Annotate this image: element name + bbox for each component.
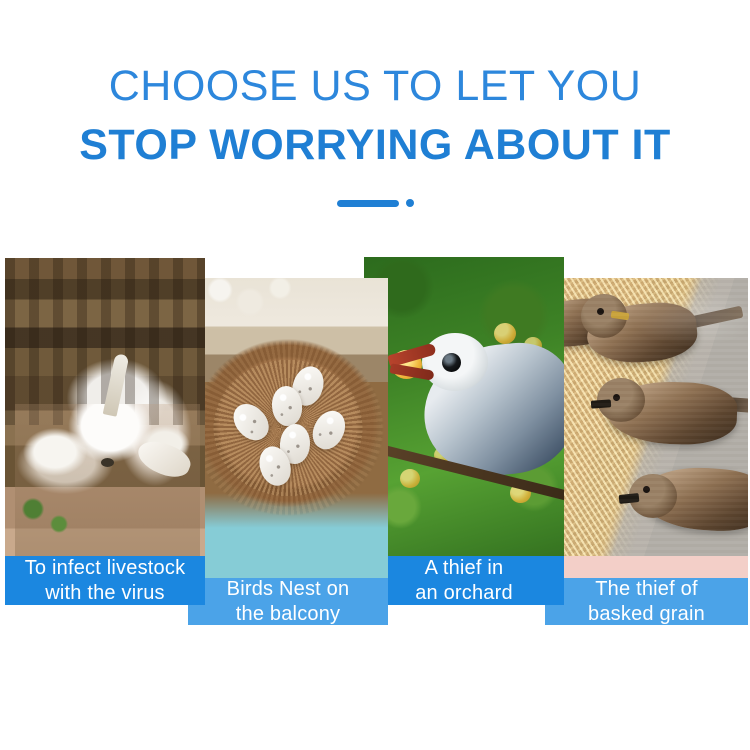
bird-eye-shape: [442, 353, 461, 372]
photo-bottom-strip: [545, 556, 748, 578]
sparrow-body-shape: [606, 380, 738, 446]
egg-shape: [226, 397, 275, 447]
sparrow-tail-shape: [680, 306, 743, 331]
sparrows-grain-photo: [545, 278, 748, 625]
fruit-shape: [400, 469, 420, 488]
sparrow-tail-shape: [721, 397, 748, 414]
egg-shape: [307, 405, 351, 454]
gallery-panel-grain[interactable]: The thief of basked grain: [545, 278, 748, 625]
sparrow-head-shape: [597, 378, 645, 422]
gallery-caption-orchard: A thief in an orchard: [364, 556, 564, 605]
sparrow-eye-shape: [613, 394, 620, 401]
gallery-panel-nest[interactable]: Birds Nest on the balcony: [188, 278, 388, 625]
sparrow-eye-shape: [643, 486, 650, 493]
goat-eye-shape: [101, 458, 114, 467]
sparrow-beak-shape: [619, 493, 640, 504]
nest-photo: [188, 278, 388, 625]
goat-ear-shape: [133, 435, 194, 483]
sparrow-body-shape: [585, 299, 700, 366]
fruit-shape: [494, 323, 516, 344]
sparrow-beak-shape: [591, 399, 612, 408]
image-gallery: To infect livestock with the virus Birds…: [0, 0, 750, 750]
gallery-panel-livestock[interactable]: To infect livestock with the virus: [5, 258, 205, 605]
gallery-panel-orchard[interactable]: A thief in an orchard: [364, 257, 564, 605]
gallery-caption-grain: The thief of basked grain: [545, 578, 748, 625]
sparrow-head-shape: [581, 294, 627, 338]
sparrow-eye-shape: [597, 308, 604, 315]
goat-horn-shape: [103, 353, 130, 417]
gallery-caption-nest: Birds Nest on the balcony: [188, 578, 388, 625]
sparrow-beak-shape: [611, 311, 630, 320]
gallery-caption-livestock: To infect livestock with the virus: [5, 556, 205, 605]
sparrow-body-shape: [639, 464, 748, 535]
goat-photo: [5, 258, 205, 605]
sparrow-head-shape: [629, 474, 677, 518]
bird-orchard-photo: [364, 257, 564, 605]
